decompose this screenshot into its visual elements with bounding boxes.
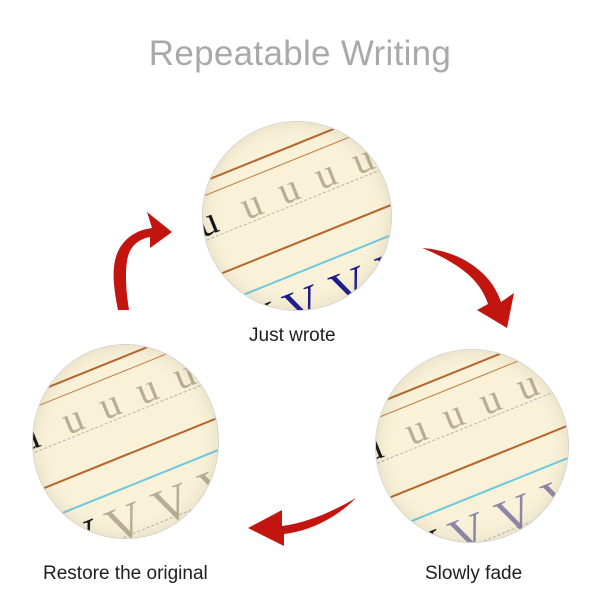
step-image-just-wrote: u uuuu V VVV	[203, 122, 391, 310]
practice-sheet-3: u uuuu V VVV ☐✕	[33, 345, 218, 538]
step-image-slowly-fade: u uuuu V VVV VV ☐✕	[376, 350, 568, 542]
arrow-fade-to-restore	[246, 496, 356, 552]
practice-sheet-2: u uuuu V VVV VV ☐✕	[376, 350, 568, 542]
caption-slowly-fade: Slowly fade	[425, 563, 522, 585]
practice-sheet-1: u uuuu V VVV	[203, 122, 391, 310]
letter-u-written-3: u	[33, 415, 44, 460]
arrow-restore-to-wrote-icon	[96, 206, 190, 310]
letter-v-restored-trace-3: VVV	[98, 449, 218, 538]
page-title: Repeatable Writing	[0, 34, 600, 74]
caption-restore-the-original: Restore the original	[43, 563, 208, 585]
caption-just-wrote: Just wrote	[249, 325, 336, 347]
arrow-wrote-to-fade-icon	[420, 240, 522, 332]
step-image-restore-the-original: u uuuu V VVV ☐✕	[33, 345, 218, 538]
arrow-wrote-to-fade	[420, 240, 522, 332]
letter-u-written-1: u	[203, 200, 224, 245]
letter-u-written-2: u	[376, 426, 388, 471]
arrow-fade-to-restore-icon	[246, 496, 356, 552]
arrow-restore-to-wrote	[96, 206, 190, 310]
infographic-stage: Repeatable Writing u uuuu V VVV	[0, 0, 600, 600]
